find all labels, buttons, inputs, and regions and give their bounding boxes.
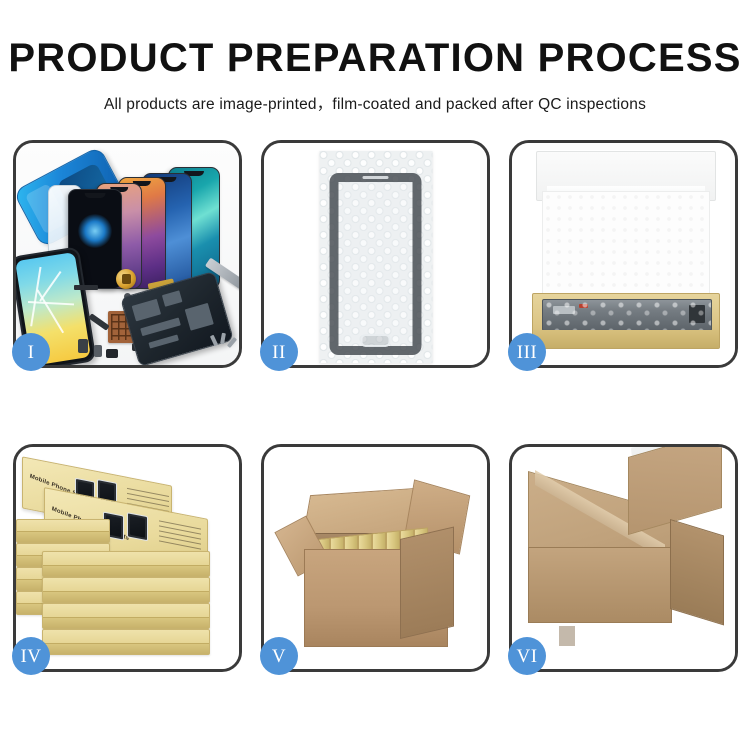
step-badge-6: VI [508,637,546,675]
copper-coil-icon [116,269,136,289]
kraft-box-right-3 [42,603,210,629]
small-part-icon-1 [78,339,88,353]
packed-screen-icon [542,299,712,331]
process-step-panel-2[interactable]: II [261,140,490,368]
step-badge-5: V [260,637,298,675]
carton-front-right [670,519,724,626]
home-button-icon [361,334,391,347]
kraft-tray-icon [532,293,720,349]
wrapped-phone-screen [330,173,422,355]
step-badge-3: III [508,333,546,371]
page-header: PRODUCT PREPARATION PROCESS All products… [0,0,750,114]
process-step-panel-3[interactable]: III [509,140,738,368]
step-1-photo [16,143,239,365]
process-step-panel-1[interactable]: I [13,140,242,368]
step-2-photo [264,143,487,365]
small-part-icon-3 [106,349,118,358]
product-preparation-page: PRODUCT PREPARATION PROCESS All products… [0,0,750,750]
step-badge-4: IV [12,637,50,675]
step-5-photo [264,447,487,669]
open-shipping-carton [290,477,466,649]
step-badge-1: I [12,333,50,371]
flex-cable-icon-3 [88,313,109,331]
kraft-box-right-2 [42,577,210,603]
foam-liner-icon [542,191,710,301]
step-6-photo [512,447,735,669]
step-3-photo [512,143,735,365]
process-step-grid: I II [13,140,737,680]
bar-chip-icon [74,285,98,290]
kraft-box-right-4 [42,629,210,655]
process-step-panel-5[interactable]: V [261,444,490,672]
page-subtitle: All products are image-printed，film-coat… [0,78,750,114]
carton-front-left [528,547,672,623]
open-mailer-box [532,151,718,351]
sealed-shipping-carton [528,471,724,651]
page-title: PRODUCT PREPARATION PROCESS [0,0,750,78]
process-step-panel-4[interactable]: Mobile Phone Spare Parts Mobile Phone Sp… [13,444,242,672]
kraft-box-stack: Mobile Phone Spare Parts Mobile Phone Sp… [16,455,239,667]
bubble-wrap-sheet [319,151,432,363]
kraft-box-right-1 [42,551,210,577]
step-badge-2: II [260,333,298,371]
box-photo-icon-4 [127,512,148,541]
earpiece-slot-icon [363,176,389,179]
screws-icon [212,333,239,351]
carton-side-face [400,527,454,639]
kraft-box-left-1 [16,519,110,543]
step-4-photo: Mobile Phone Spare Parts Mobile Phone Sp… [16,447,239,669]
small-part-icon-2 [94,345,102,357]
process-step-panel-6[interactable]: VI [509,444,738,672]
